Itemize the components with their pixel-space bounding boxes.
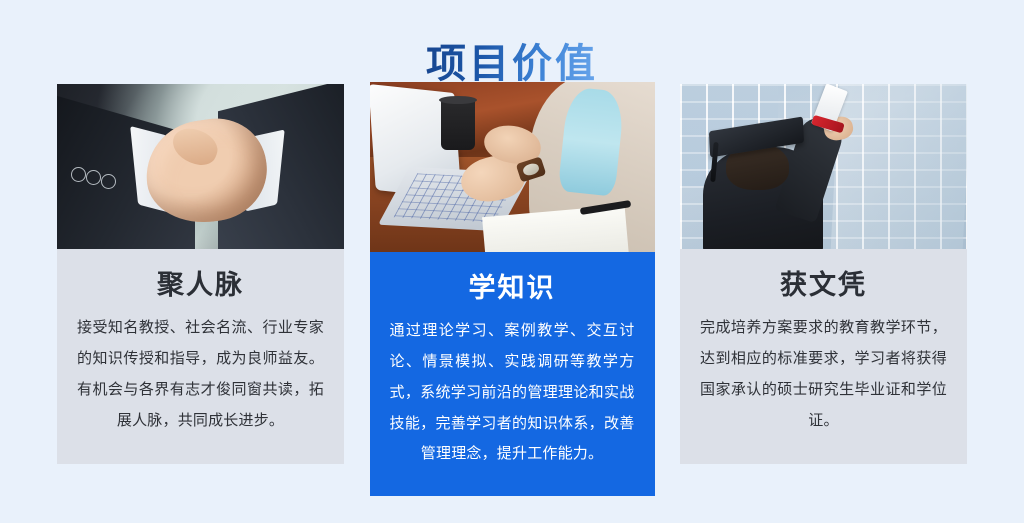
value-card-knowledge[interactable]: 学知识 通过理论学习、案例教学、交互讨论、情景模拟、实践调研等教学方式，系统学习… [370,82,655,496]
handshake-photo [57,84,344,249]
value-card-body-diploma: 获文凭 完成培养方案要求的教育教学环节，达到相应的标准要求，学习者将获得国家承认… [680,249,967,464]
value-card-connections[interactable]: 聚人脉 接受知名教授、社会名流、行业专家的知识传授和指导，成为良师益友。有机会与… [57,84,344,464]
value-card-title-diploma: 获文凭 [700,269,947,301]
graduate-diploma-photo [680,84,967,249]
coffee-cup [441,99,475,150]
value-card-title-connections: 聚人脉 [77,269,324,301]
handshake-illustration [57,84,344,249]
graduate-illustration [680,84,967,249]
value-card-body-knowledge: 学知识 通过理论学习、案例教学、交互讨论、情景模拟、实践调研等教学方式，系统学习… [370,252,655,496]
value-card-diploma[interactable]: 获文凭 完成培养方案要求的教育教学环节，达到相应的标准要求，学习者将获得国家承认… [680,84,967,464]
value-card-text-knowledge: 通过理论学习、案例教学、交互讨论、情景模拟、实践调研等教学方式，系统学习前沿的管… [390,316,635,470]
value-card-body-connections: 聚人脉 接受知名教授、社会名流、行业专家的知识传授和指导，成为良师益友。有机会与… [57,249,344,464]
value-cards-row: 聚人脉 接受知名教授、社会名流、行业专家的知识传授和指导，成为良师益友。有机会与… [57,84,967,484]
laptop-illustration [370,82,655,252]
sleeve-buttons [71,167,123,188]
value-card-text-diploma: 完成培养方案要求的教育教学环节，达到相应的标准要求，学习者将获得国家承认的硕士研… [700,313,947,436]
glass-tower [831,84,967,249]
page-title: 项目价值 [426,41,598,87]
value-card-title-knowledge: 学知识 [390,272,635,304]
laptop-working-photo [370,82,655,252]
value-card-text-connections: 接受知名教授、社会名流、行业专家的知识传授和指导，成为良师益友。有机会与各界有志… [77,313,324,436]
